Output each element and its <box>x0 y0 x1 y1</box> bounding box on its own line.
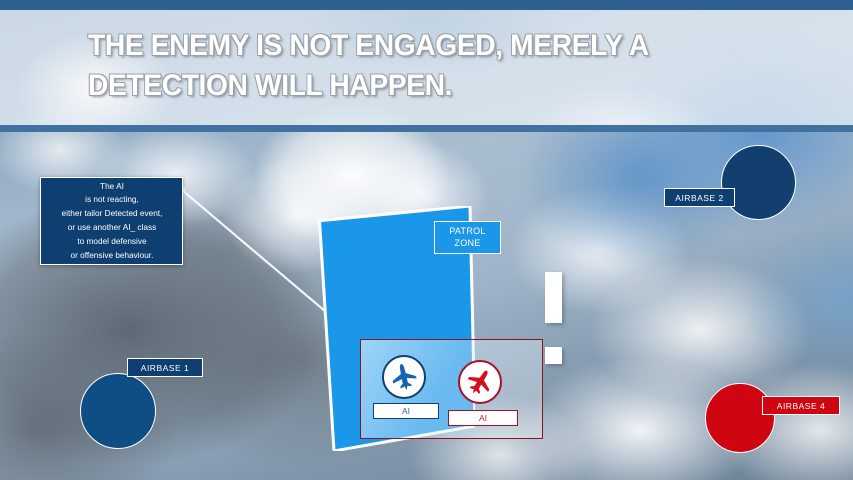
airbase-2-label: AIRBASE 2 <box>664 188 735 207</box>
fighter-jet-icon <box>465 367 495 397</box>
friendly-ai-tag[interactable]: AI <box>373 403 439 419</box>
enemy-jet-badge[interactable] <box>458 360 502 404</box>
slide-canvas: THE ENEMY IS NOT ENGAGED, MERELY A DETEC… <box>0 0 853 480</box>
friendly-jet-badge[interactable] <box>382 355 426 399</box>
exclamation-mark-dot-icon <box>545 347 562 364</box>
page-title: THE ENEMY IS NOT ENGAGED, MERELY A DETEC… <box>88 26 765 105</box>
enemy-ai-tag[interactable]: AI <box>448 410 518 426</box>
airbase-4-label: AIRBASE 4 <box>762 396 840 415</box>
airbase-2-marker[interactable] <box>721 145 796 220</box>
exclamation-mark-icon <box>545 272 562 323</box>
airbase-1-label: AIRBASE 1 <box>127 358 203 377</box>
callout-box: The AI is not reacting, either tailor De… <box>40 177 183 265</box>
patrol-zone-label: PATROL ZONE <box>434 221 501 254</box>
airbase-1-marker[interactable] <box>80 373 156 449</box>
patrol-zone-label-line2: ZONE <box>454 238 480 249</box>
callout-text: The AI is not reacting, either tailor De… <box>61 180 162 263</box>
airbase-4-marker[interactable] <box>705 383 775 453</box>
fighter-jet-icon <box>389 362 419 392</box>
patrol-zone-label-line1: PATROL <box>449 226 485 237</box>
